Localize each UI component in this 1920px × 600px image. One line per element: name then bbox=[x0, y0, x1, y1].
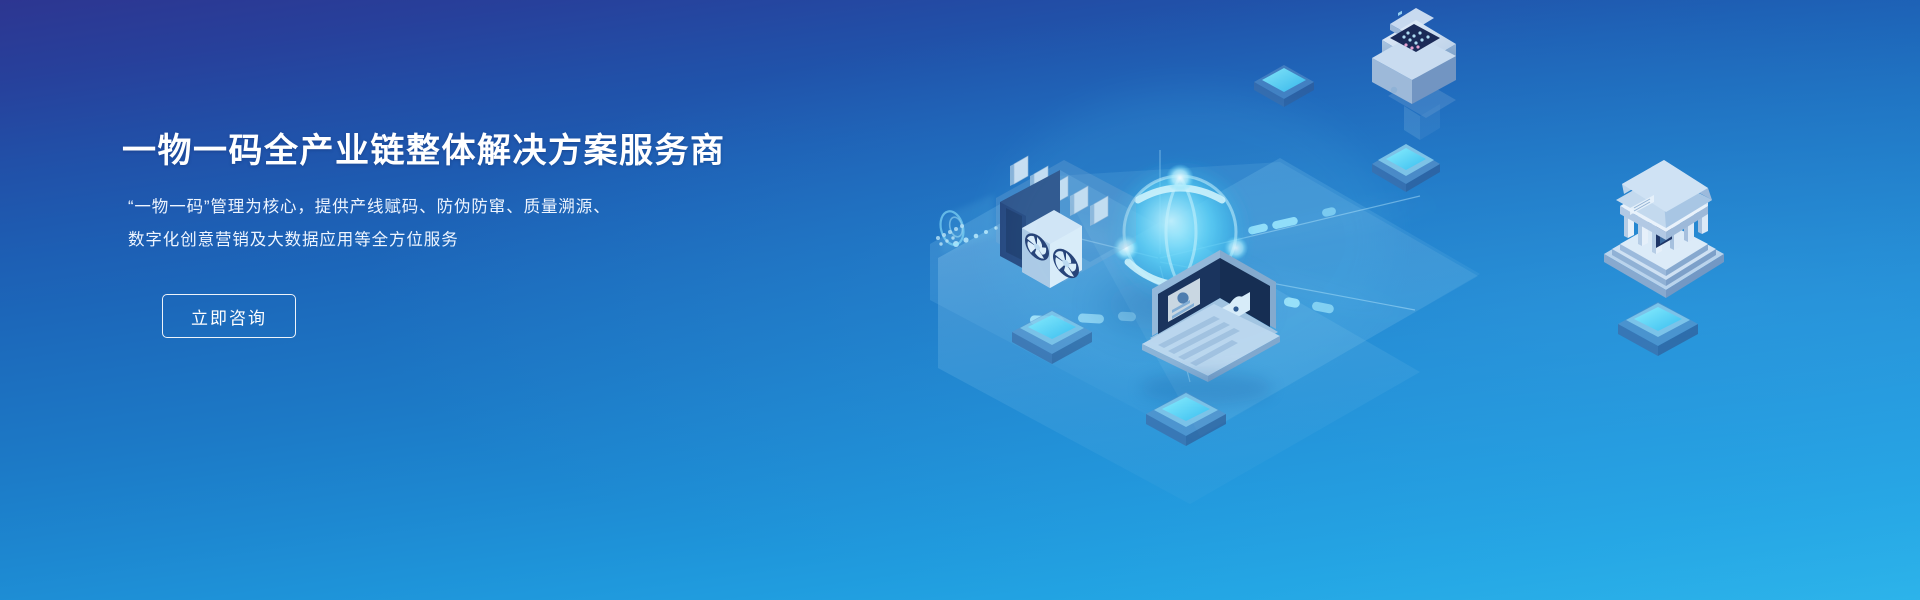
pedestal-pos bbox=[1372, 144, 1440, 192]
pos-terminal-icon bbox=[1372, 8, 1456, 140]
hero-subtitle-line-2: 数字化创意营销及大数据应用等全方位服务 bbox=[128, 224, 760, 258]
consult-now-button[interactable]: 立即咨询 bbox=[162, 294, 296, 338]
pedestal-bank bbox=[1618, 302, 1698, 356]
hero-subtitle-line-1: “一物一码”管理为核心，提供产线赋码、防伪防窜、质量溯源、 bbox=[128, 191, 760, 225]
bank-building-icon bbox=[1604, 160, 1724, 298]
hero-text-block: 一物一码全产业链整体解决方案服务商 “一物一码”管理为核心，提供产线赋码、防伪防… bbox=[120, 130, 760, 338]
page-title: 一物一码全产业链整体解决方案服务商 bbox=[122, 130, 760, 173]
isometric-network-illustration bbox=[860, 0, 1920, 600]
hero-banner: 一物一码全产业链整体解决方案服务商 “一物一码”管理为核心，提供产线赋码、防伪防… bbox=[0, 0, 1920, 600]
